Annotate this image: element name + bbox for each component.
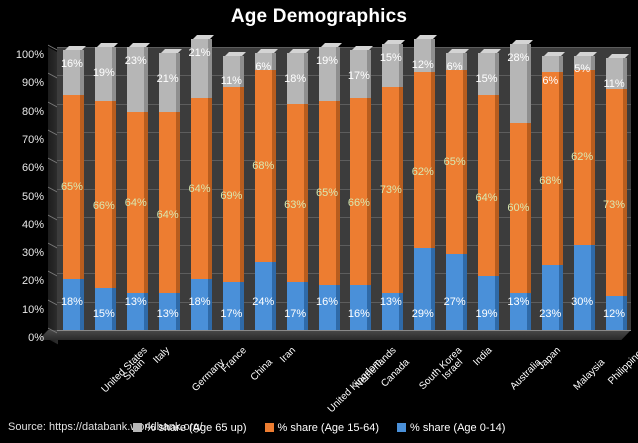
bar-segment-age-65-up[interactable]: [319, 47, 336, 101]
bar-segment-age-65-up[interactable]: [95, 47, 112, 101]
bar-segment-shade: [304, 53, 308, 104]
bar-segment-shade: [495, 276, 499, 330]
bar-segment-shade: [336, 285, 340, 330]
bar-top-cap: [257, 49, 278, 53]
bar-column[interactable]: [287, 47, 304, 330]
bar-segment-age-0-14[interactable]: [223, 282, 240, 330]
bar-column[interactable]: [159, 47, 176, 330]
bar-segment-age-65-up[interactable]: [191, 39, 208, 98]
bar-segment-age-65-up[interactable]: [542, 56, 559, 73]
bar-column[interactable]: [350, 47, 367, 330]
bar-segment-shade: [176, 293, 180, 330]
legend-item-label: % share (Age 65 up): [146, 422, 247, 434]
bar-segment-shade: [559, 72, 563, 264]
bar-segment-shade: [176, 112, 180, 293]
bar-segment-shade: [208, 39, 212, 98]
bar-segment-shade: [208, 98, 212, 279]
bar-segment-shade: [336, 47, 340, 101]
bar-column[interactable]: [478, 47, 495, 330]
bar-segment-age-65-up[interactable]: [478, 53, 495, 95]
bar-top-cap: [321, 43, 342, 47]
bar-column[interactable]: [95, 47, 112, 330]
bar-segment-age-0-14[interactable]: [542, 265, 559, 330]
bar-column[interactable]: [319, 47, 336, 330]
bar-segment-shade: [272, 262, 276, 330]
bar-column[interactable]: [510, 47, 527, 330]
bar-top-cap: [225, 52, 246, 56]
bar-segment-age-15-64[interactable]: [191, 98, 208, 279]
y-axis-tick-label: 10%: [0, 304, 44, 316]
bar-segment-age-15-64[interactable]: [574, 70, 591, 245]
bar-segment-age-65-up[interactable]: [255, 53, 272, 70]
bar-segment-age-15-64[interactable]: [382, 87, 399, 294]
x-axis-category-labels: United StatesSpainItalyGermanyFranceChin…: [48, 343, 631, 409]
bar-segment-shade: [144, 293, 148, 330]
bar-column[interactable]: [63, 47, 80, 330]
y-axis-tick-label: 90%: [0, 77, 44, 89]
bar-segment-shade: [527, 293, 531, 330]
bar-column[interactable]: [223, 47, 240, 330]
bar-segment-shade: [431, 39, 435, 73]
bar-segment-age-0-14[interactable]: [350, 285, 367, 330]
chart-container: Age Demographics 0%10%20%30%40%50%60%70%…: [0, 0, 638, 443]
bar-segment-shade: [463, 254, 467, 330]
bar-segment-age-15-64[interactable]: [95, 101, 112, 288]
legend-item-label: % share (Age 0-14): [410, 422, 505, 434]
x-axis-label: Philippines: [606, 345, 638, 387]
bar-segment-shade: [591, 70, 595, 245]
bar-top-cap: [289, 49, 310, 53]
bar-segment-age-65-up[interactable]: [446, 53, 463, 70]
bar-segment-shade: [240, 56, 244, 87]
bar-segment-age-0-14[interactable]: [510, 293, 527, 330]
y-axis-tick-label: 0%: [0, 332, 44, 344]
bar-segment-shade: [367, 98, 371, 285]
legend-swatch-age-65-up: [133, 423, 142, 432]
bar-segment-shade: [80, 279, 84, 330]
bar-column[interactable]: [414, 47, 431, 330]
bar-segment-shade: [336, 101, 340, 285]
bar-segment-shade: [559, 56, 563, 73]
bar-segment-age-15-64[interactable]: [542, 72, 559, 264]
bar-segment-age-0-14[interactable]: [574, 245, 591, 330]
bar-segment-shade: [623, 296, 627, 330]
legend-item-label: % share (Age 15-64): [278, 422, 380, 434]
x-axis-label: Iran: [278, 345, 298, 365]
bar-segment-shade: [112, 101, 116, 288]
bar-segment-shade: [623, 89, 627, 296]
bar-segment-shade: [272, 70, 276, 262]
bar-top-cap: [193, 35, 214, 39]
bar-segment-shade: [240, 87, 244, 282]
bar-segment-age-0-14[interactable]: [478, 276, 495, 330]
x-axis-label: Malaysia: [572, 357, 608, 393]
bar-segment-age-15-64[interactable]: [606, 89, 623, 296]
bar-column[interactable]: [127, 47, 144, 330]
x-axis-label: China: [249, 357, 275, 383]
bar-segment-age-0-14[interactable]: [255, 262, 272, 330]
y-axis-tick-label: 70%: [0, 134, 44, 146]
bar-segment-shade: [176, 53, 180, 112]
bar-segment-shade: [463, 53, 467, 70]
legend-item[interactable]: % share (Age 0-14): [397, 422, 505, 434]
y-axis-tick-label: 40%: [0, 219, 44, 231]
bar-segment-age-15-64[interactable]: [319, 101, 336, 285]
legend-swatch-age-0-14: [397, 423, 406, 432]
bar-segment-age-15-64[interactable]: [255, 70, 272, 262]
chart-title: Age Demographics: [0, 6, 638, 28]
x-axis-label: Germany: [190, 357, 227, 394]
bar-segment-age-15-64[interactable]: [510, 123, 527, 293]
bar-column[interactable]: [542, 47, 559, 330]
bar-segment-shade: [463, 70, 467, 254]
bar-segment-shade: [367, 50, 371, 98]
bar-segment-age-65-up[interactable]: [223, 56, 240, 87]
bar-segment-age-15-64[interactable]: [63, 95, 80, 279]
bar-segment-age-0-14[interactable]: [191, 279, 208, 330]
plot-floor: [38, 330, 631, 340]
bar-segment-age-0-14[interactable]: [63, 279, 80, 330]
bar-segment-shade: [399, 87, 403, 294]
bar-segment-shade: [144, 47, 148, 112]
bar-series-group: 16%65%18%19%66%15%23%64%13%21%64%13%21%6…: [57, 47, 631, 330]
bar-column[interactable]: [382, 47, 399, 330]
bar-segment-age-15-64[interactable]: [223, 87, 240, 282]
bar-segment-age-65-up[interactable]: [350, 50, 367, 98]
legend-swatch-age-15-64: [265, 423, 274, 432]
y-axis-tick-label: 80%: [0, 106, 44, 118]
bar-segment-shade: [431, 248, 435, 330]
y-axis-tick-label: 30%: [0, 247, 44, 259]
bar-segment-shade: [591, 56, 595, 70]
bar-segment-shade: [240, 282, 244, 330]
bar-segment-shade: [112, 288, 116, 330]
bar-segment-shade: [304, 282, 308, 330]
bar-segment-age-15-64[interactable]: [414, 72, 431, 247]
bar-segment-shade: [623, 58, 627, 89]
bar-segment-shade: [80, 95, 84, 279]
bar-segment-age-0-14[interactable]: [606, 296, 623, 330]
y-axis-tick-label: 50%: [0, 191, 44, 203]
bar-segment-age-65-up[interactable]: [510, 44, 527, 123]
bar-segment-age-65-up[interactable]: [414, 39, 431, 73]
x-axis-label: Italy: [151, 345, 172, 366]
bar-segment-shade: [367, 285, 371, 330]
bar-column[interactable]: [191, 47, 208, 330]
bar-segment-shade: [431, 72, 435, 247]
bar-column[interactable]: [606, 47, 623, 330]
bar-segment-shade: [80, 50, 84, 95]
bar-segment-age-0-14[interactable]: [95, 288, 112, 330]
bar-segment-age-65-up[interactable]: [127, 47, 144, 112]
bar-segment-age-0-14[interactable]: [127, 293, 144, 330]
bar-segment-age-15-64[interactable]: [159, 112, 176, 293]
bar-segment-age-65-up[interactable]: [63, 50, 80, 95]
bar-segment-age-0-14[interactable]: [287, 282, 304, 330]
x-axis-label: India: [471, 345, 494, 368]
bar-segment-age-15-64[interactable]: [478, 95, 495, 276]
bar-top-cap: [544, 52, 565, 56]
bar-segment-shade: [527, 123, 531, 293]
y-axis-tick-label: 100%: [0, 49, 44, 61]
bar-top-cap: [576, 52, 597, 56]
bar-segment-age-15-64[interactable]: [350, 98, 367, 285]
bar-segment-age-0-14[interactable]: [414, 248, 431, 330]
bar-segment-shade: [272, 53, 276, 70]
plot-area: 0%10%20%30%40%50%60%70%80%90%100% 16%65%…: [48, 47, 631, 339]
bar-segment-age-65-up[interactable]: [159, 53, 176, 112]
y-axis-tick-label: 60%: [0, 162, 44, 174]
legend-item[interactable]: % share (Age 65 up): [133, 422, 247, 434]
bar-segment-age-65-up[interactable]: [287, 53, 304, 104]
bar-top-cap: [416, 35, 437, 39]
bar-segment-age-0-14[interactable]: [159, 293, 176, 330]
bar-segment-shade: [399, 44, 403, 86]
bar-segment-age-15-64[interactable]: [287, 104, 304, 282]
bar-segment-shade: [208, 279, 212, 330]
bar-segment-shade: [495, 53, 499, 95]
bar-segment-age-0-14[interactable]: [382, 293, 399, 330]
bar-segment-shade: [399, 293, 403, 330]
bar-segment-age-65-up[interactable]: [574, 56, 591, 70]
bar-top-cap: [480, 49, 501, 53]
bar-segment-shade: [144, 112, 148, 293]
bar-column[interactable]: [446, 47, 463, 330]
bar-segment-age-15-64[interactable]: [446, 70, 463, 254]
bar-segment-age-65-up[interactable]: [606, 58, 623, 89]
bar-segment-age-65-up[interactable]: [382, 44, 399, 86]
bar-segment-shade: [527, 44, 531, 123]
bar-segment-age-15-64[interactable]: [127, 112, 144, 293]
bar-segment-shade: [559, 265, 563, 330]
bar-segment-shade: [495, 95, 499, 276]
bar-segment-shade: [304, 104, 308, 282]
legend-item[interactable]: % share (Age 15-64): [265, 422, 380, 434]
gridline: [57, 330, 631, 331]
x-axis-label: Japan: [536, 345, 563, 372]
x-axis-label: France: [219, 345, 249, 375]
chart-legend: % share (Age 65 up)% share (Age 15-64)% …: [0, 419, 638, 437]
bar-segment-shade: [591, 245, 595, 330]
bar-column[interactable]: [255, 47, 272, 330]
bar-segment-age-0-14[interactable]: [319, 285, 336, 330]
bar-segment-age-0-14[interactable]: [446, 254, 463, 330]
bar-segment-shade: [112, 47, 116, 101]
y-axis-tick-label: 20%: [0, 275, 44, 287]
bar-column[interactable]: [574, 47, 591, 330]
